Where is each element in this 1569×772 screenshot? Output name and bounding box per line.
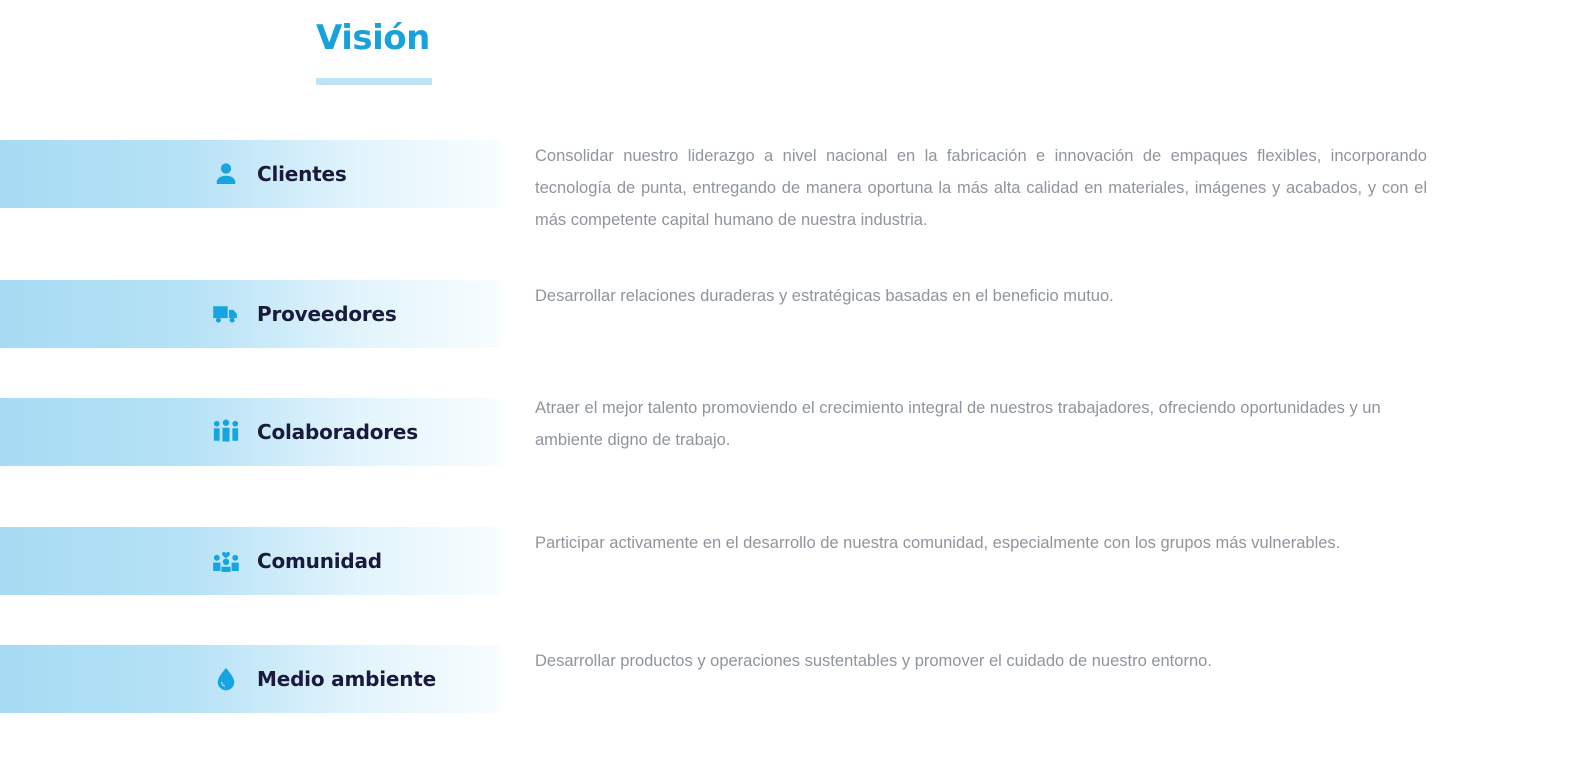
pillar-pill-proveedores[interactable]: Proveedores — [0, 280, 500, 348]
pillar-pill-clientes[interactable]: Clientes — [0, 140, 500, 208]
pillar-description: Participar activamente en el desarrollo … — [535, 527, 1427, 559]
pillar-label: Medio ambiente — [257, 667, 436, 691]
pillar-description: Desarrollar relaciones duraderas y estra… — [535, 280, 1427, 312]
pillar-label: Clientes — [257, 162, 347, 186]
pillar-pill-colaboradores[interactable]: Colaboradores — [0, 398, 500, 466]
pillar-description: Desarrollar productos y operaciones sust… — [535, 645, 1427, 677]
water-drop-icon — [209, 662, 243, 696]
list-item: Clientes Consolidar nuestro liderazgo a … — [0, 140, 1569, 260]
title-underline-rule — [316, 78, 432, 85]
pillar-pill-comunidad[interactable]: Comunidad — [0, 527, 500, 595]
people-group-icon — [209, 415, 243, 449]
list-item: Comunidad Participar activamente en el d… — [0, 500, 1569, 620]
page-title: Visión — [316, 18, 716, 59]
list-item: Colaboradores Atraer el mejor talento pr… — [0, 380, 1569, 500]
pillar-label: Proveedores — [257, 302, 397, 326]
person-icon — [209, 157, 243, 191]
truck-icon — [209, 297, 243, 331]
pillar-description: Atraer el mejor talento promoviendo el c… — [535, 392, 1427, 456]
pillar-label: Comunidad — [257, 549, 382, 573]
pillar-description: Consolidar nuestro liderazgo a nivel nac… — [535, 140, 1427, 236]
pillar-label: Colaboradores — [257, 420, 418, 444]
vision-pillar-list: Clientes Consolidar nuestro liderazgo a … — [0, 140, 1569, 728]
list-item: Medio ambiente Desarrollar productos y o… — [0, 620, 1569, 728]
list-item: Proveedores Desarrollar relaciones durad… — [0, 260, 1569, 380]
pillar-pill-medio-ambiente[interactable]: Medio ambiente — [0, 645, 500, 713]
family-heart-icon — [209, 544, 243, 578]
section-header: Visión — [316, 18, 716, 85]
